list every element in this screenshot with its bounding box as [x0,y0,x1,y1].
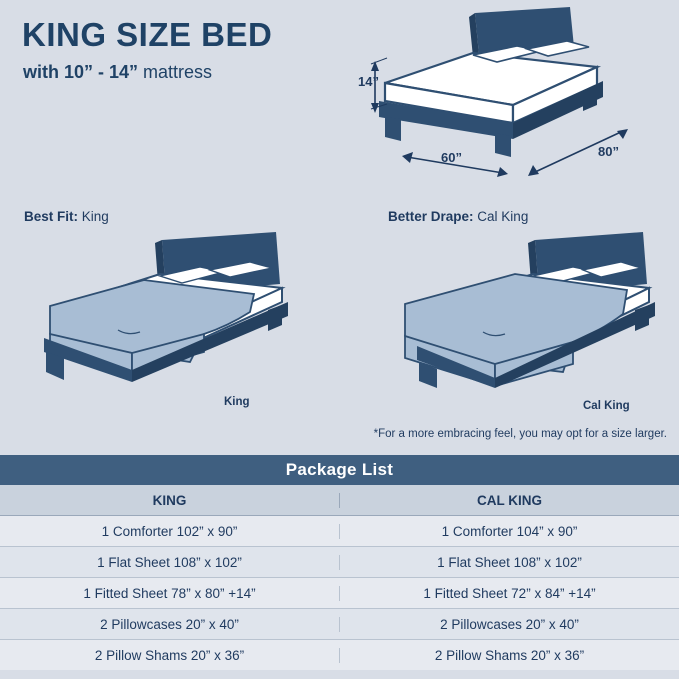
cell-king-flat-sheet: 1 Flat Sheet 108” x 102” [0,555,340,570]
table-row: 1 Flat Sheet 108” x 102” 1 Flat Sheet 10… [0,547,679,578]
cell-calking-flat-sheet: 1 Flat Sheet 108” x 102” [340,555,679,570]
package-list-table: Package List KING CAL KING 1 Comforter 1… [0,455,679,670]
dimension-height-label: 14” [358,74,379,89]
cell-king-comforter: 1 Comforter 102” x 90” [0,524,340,539]
column-header-king: KING [0,493,340,508]
column-header-cal-king: CAL KING [340,493,679,508]
king-bed-name: King [224,396,250,408]
width-arrow-left [402,152,413,163]
bed-dimension-illustration [345,5,675,190]
king-bed-illustration [14,222,304,402]
cell-king-pillowcases: 2 Pillowcases 20” x 40” [0,617,340,632]
cell-calking-pillow-shams: 2 Pillow Shams 20” x 36” [340,648,679,663]
page-subtitle: with 10” - 14” mattress [23,62,212,83]
page-title: KING SIZE BED [22,16,272,54]
table-row: 1 Fitted Sheet 78” x 80” +14” 1 Fitted S… [0,578,679,609]
height-ext-top [371,58,387,64]
subtitle-bold-text: with 10” - 14” [23,62,138,82]
package-list-title: Package List [0,455,679,485]
dimension-length-label: 80” [598,144,619,159]
cell-calking-fitted-sheet: 1 Fitted Sheet 72” x 84” +14” [340,586,679,601]
dimension-width-label: 60” [441,150,462,165]
cell-calking-comforter: 1 Comforter 104” x 90” [340,524,679,539]
table-row: 1 Comforter 102” x 90” 1 Comforter 104” … [0,516,679,547]
cell-king-pillow-shams: 2 Pillow Shams 20” x 36” [0,648,340,663]
table-row: 2 Pillowcases 20” x 40” 2 Pillowcases 20… [0,609,679,640]
table-row: 2 Pillow Shams 20” x 36” 2 Pillow Shams … [0,640,679,670]
cal-king-bed-illustration [375,222,675,402]
cal-king-bed-name: Cal King [583,400,630,412]
cell-king-fitted-sheet: 1 Fitted Sheet 78” x 80” +14” [0,586,340,601]
bed-leg-front-right [495,133,511,157]
cell-calking-pillowcases: 2 Pillowcases 20” x 40” [340,617,679,632]
bed-leg-front-left [385,117,401,141]
table-header-row: KING CAL KING [0,485,679,516]
length-arrow-right [617,129,628,139]
width-arrow-right [497,167,508,177]
infographic-page: KING SIZE BED with 10” - 14” mattress [0,0,679,679]
king-leg-right [268,305,282,331]
subtitle-light-text: mattress [143,62,212,82]
footnote-text: *For a more embracing feel, you may opt … [374,428,667,440]
